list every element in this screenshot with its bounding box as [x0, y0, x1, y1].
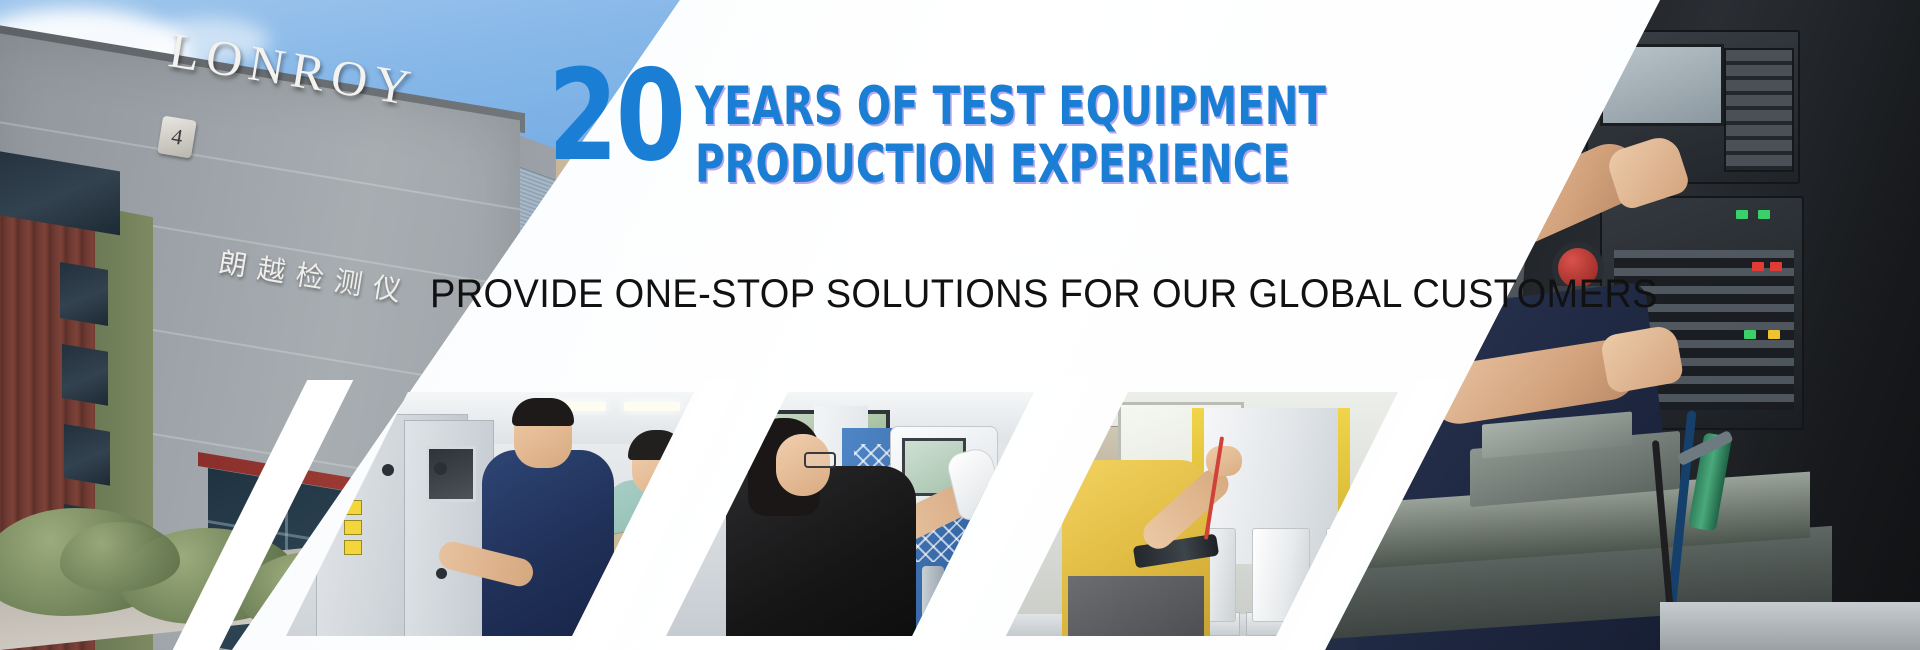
cnc-keypad — [1724, 48, 1794, 172]
warning-label — [344, 540, 362, 555]
building-number-plate: 4 — [157, 116, 197, 159]
promo-banner: LONROY 4 朗越检测仪 — [0, 0, 1920, 650]
status-led — [1758, 210, 1770, 219]
years-number: 20 — [548, 64, 683, 168]
worker-trousers — [1068, 576, 1204, 636]
status-led — [1752, 262, 1764, 271]
window — [60, 262, 108, 326]
status-led — [1770, 262, 1782, 271]
thumbnail-technician-touchscreen[interactable] — [666, 392, 1034, 636]
person-hair — [512, 398, 574, 426]
headline-lines: YEARS OF TEST EQUIPMENT PRODUCTION EXPER… — [695, 64, 1525, 194]
white-test-unit — [1252, 528, 1310, 622]
ceiling-light — [624, 402, 680, 411]
chamber-knob — [436, 568, 447, 579]
eyeglasses-icon — [804, 452, 836, 468]
warning-label — [344, 520, 362, 535]
warning-label — [344, 500, 362, 515]
thumbnail-strip — [0, 380, 1920, 650]
thumbnail-lab-staff[interactable] — [286, 392, 694, 636]
chamber-knob — [382, 464, 394, 476]
chamber-knob — [434, 462, 447, 475]
headline-row: 20 YEARS OF TEST EQUIPMENT PRODUCTION EX… — [548, 64, 1348, 194]
headline-line-2: PRODUCTION EXPERIENCE — [695, 136, 1326, 194]
headline-block: 20 YEARS OF TEST EQUIPMENT PRODUCTION EX… — [548, 64, 1348, 194]
status-led — [1768, 330, 1780, 339]
status-led — [1744, 330, 1756, 339]
worker-hand — [1206, 446, 1242, 476]
banner-subtitle: PROVIDE ONE-STOP SOLUTIONS FOR OUR GLOBA… — [430, 272, 1658, 316]
chamber-window — [426, 446, 476, 502]
status-led — [1736, 210, 1748, 219]
headline-line-1: YEARS OF TEST EQUIPMENT — [695, 78, 1326, 136]
